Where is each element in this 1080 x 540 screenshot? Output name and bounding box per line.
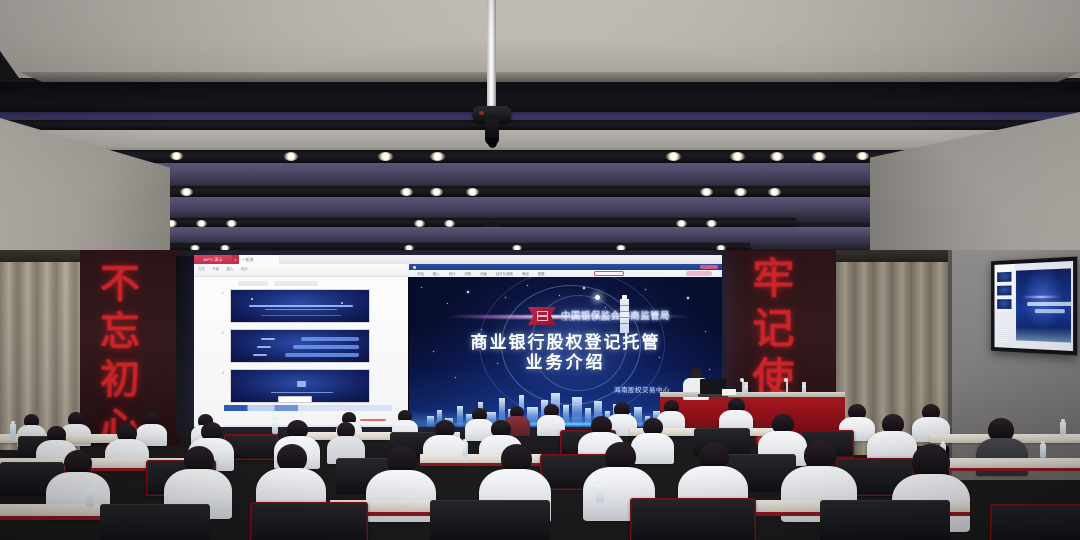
chair-back bbox=[990, 504, 1080, 540]
tv-slide-thumbnail bbox=[997, 272, 1011, 282]
chair-back bbox=[430, 500, 550, 540]
camera-mount-pole bbox=[487, 0, 496, 112]
water-bottle bbox=[1040, 444, 1046, 459]
chair-back bbox=[100, 504, 210, 540]
thumbnail-toolbar bbox=[238, 281, 358, 286]
water-bottle bbox=[86, 488, 94, 507]
slide-number: 2 bbox=[222, 331, 224, 335]
downlight bbox=[812, 152, 826, 161]
water-bottle bbox=[1060, 422, 1066, 437]
podium-table-surface bbox=[660, 392, 845, 397]
downlight bbox=[400, 188, 413, 196]
ceiling-soffit-edge bbox=[0, 72, 1080, 82]
close-icon[interactable]: × bbox=[232, 255, 239, 264]
downlight bbox=[430, 152, 445, 161]
tv-thumbnail-pane bbox=[995, 264, 1015, 348]
bottle-cap bbox=[802, 382, 806, 384]
downlight bbox=[700, 188, 713, 196]
water-bottle bbox=[462, 442, 468, 457]
wall-tv[interactable] bbox=[991, 256, 1077, 355]
downlight bbox=[414, 220, 425, 227]
slide-title: 商业银行股权登记托管 业务介绍 bbox=[409, 333, 722, 373]
downlight bbox=[466, 188, 479, 196]
chair-back bbox=[820, 500, 950, 540]
new-tab-button[interactable]: + 新建 bbox=[239, 255, 279, 264]
cbirc-logo-icon bbox=[528, 307, 556, 325]
tv-slide-title-line-2 bbox=[1035, 309, 1065, 313]
tv-slide-title-line-1 bbox=[1027, 302, 1071, 306]
resource-button[interactable] bbox=[686, 271, 712, 276]
downlight bbox=[444, 220, 455, 227]
ribbon-item[interactable]: 开始 bbox=[212, 267, 219, 272]
ribbon-item[interactable]: 幻灯片放映 bbox=[496, 271, 513, 276]
water-bottle bbox=[10, 424, 16, 439]
downlight bbox=[706, 220, 717, 227]
tv-slide-thumbnail bbox=[997, 286, 1011, 296]
microphone-icon bbox=[784, 378, 788, 382]
downlight bbox=[196, 220, 207, 227]
tab-wps-presentation[interactable]: WPS 演示 bbox=[194, 255, 232, 264]
conference-room-photo: 不忘初心 牢记使命 WPS 演示 × + 新建 文件 开始 插入 设计 bbox=[0, 0, 1080, 540]
ribbon-item[interactable]: 审阅 bbox=[522, 271, 529, 276]
chair-back bbox=[250, 502, 368, 540]
ribbon-item[interactable]: 文件 bbox=[198, 267, 205, 272]
downlight bbox=[666, 152, 681, 161]
slide-number: 3 bbox=[222, 371, 224, 375]
ribbon-item[interactable]: 动画 bbox=[480, 271, 487, 276]
membership-badge[interactable] bbox=[700, 265, 718, 269]
tv-light-streak bbox=[1022, 296, 1061, 298]
downlight bbox=[170, 152, 183, 160]
downlight bbox=[378, 152, 393, 161]
tv-slide-thumbnail bbox=[997, 299, 1011, 309]
water-bottle bbox=[744, 384, 748, 394]
tv-outline-rows bbox=[996, 313, 1012, 342]
app-logo-icon bbox=[413, 266, 416, 269]
ribbon-item[interactable]: 插入 bbox=[433, 271, 440, 276]
camera-led-icon bbox=[479, 111, 484, 115]
downlight bbox=[768, 188, 781, 196]
ribbon-item[interactable]: 开始 bbox=[417, 271, 424, 276]
glow-dot-decoration bbox=[595, 295, 600, 300]
ribbon-menu[interactable]: 文件 开始 插入 设计 bbox=[198, 267, 248, 272]
curtain-rail-left bbox=[0, 250, 80, 262]
bottle-cap bbox=[744, 382, 748, 384]
ribbon-item[interactable]: 插入 bbox=[226, 267, 233, 272]
ribbon-item[interactable]: 视图 bbox=[538, 271, 545, 276]
downlight bbox=[676, 220, 687, 227]
ceiling-light-beam-4 bbox=[150, 243, 750, 250]
slide-title-line-2: 业务介绍 bbox=[409, 353, 722, 373]
tv-screen bbox=[995, 261, 1074, 351]
downlight bbox=[430, 188, 443, 196]
ceiling-beam bbox=[0, 120, 1080, 130]
water-bottle bbox=[802, 384, 806, 394]
ribbon-item[interactable]: 切换 bbox=[464, 271, 471, 276]
tv-slide-canvas bbox=[1016, 268, 1071, 342]
app-titlebar: WPS 演示 × + 新建 bbox=[194, 255, 722, 264]
slide-title-line-1: 商业银行股权登记托管 bbox=[409, 333, 722, 353]
downlight bbox=[180, 188, 193, 196]
slide-number: 1 bbox=[222, 291, 224, 295]
ceiling bbox=[0, 0, 1080, 262]
chair-back bbox=[630, 498, 756, 540]
tower-cap-decoration bbox=[622, 295, 627, 300]
ppt-ribbon[interactable]: 开始 插入 设计 切换 动画 幻灯片放映 审阅 视图 bbox=[409, 270, 722, 277]
slide-logo-subtext: HAINAN OFFICE OF CBIRC bbox=[561, 318, 611, 322]
downlight bbox=[734, 188, 747, 196]
curtain-rail-right bbox=[830, 250, 956, 262]
ceiling-soffit bbox=[0, 0, 1080, 78]
downlight bbox=[284, 152, 298, 161]
ribbon-item[interactable]: 设计 bbox=[449, 271, 456, 276]
name-card bbox=[722, 389, 736, 396]
water-bottle bbox=[272, 420, 278, 435]
downlight bbox=[730, 152, 745, 161]
downlight bbox=[856, 152, 869, 160]
camera-lens-tip-icon bbox=[488, 138, 497, 148]
toolbar-chip bbox=[238, 281, 268, 286]
water-bottle bbox=[596, 484, 604, 503]
downlight bbox=[770, 152, 784, 161]
ribbon-item[interactable]: 设计 bbox=[241, 267, 248, 272]
downlight bbox=[226, 220, 237, 227]
tv-skyline-decoration bbox=[1016, 327, 1071, 343]
toolbar-chip bbox=[274, 281, 318, 286]
microphone-stand bbox=[786, 381, 788, 395]
audience-area bbox=[0, 400, 1080, 540]
slide-thumbnail-2[interactable] bbox=[230, 329, 370, 363]
slide-thumbnail-1[interactable] bbox=[230, 289, 370, 323]
highlighted-ribbon-button[interactable] bbox=[594, 271, 624, 276]
